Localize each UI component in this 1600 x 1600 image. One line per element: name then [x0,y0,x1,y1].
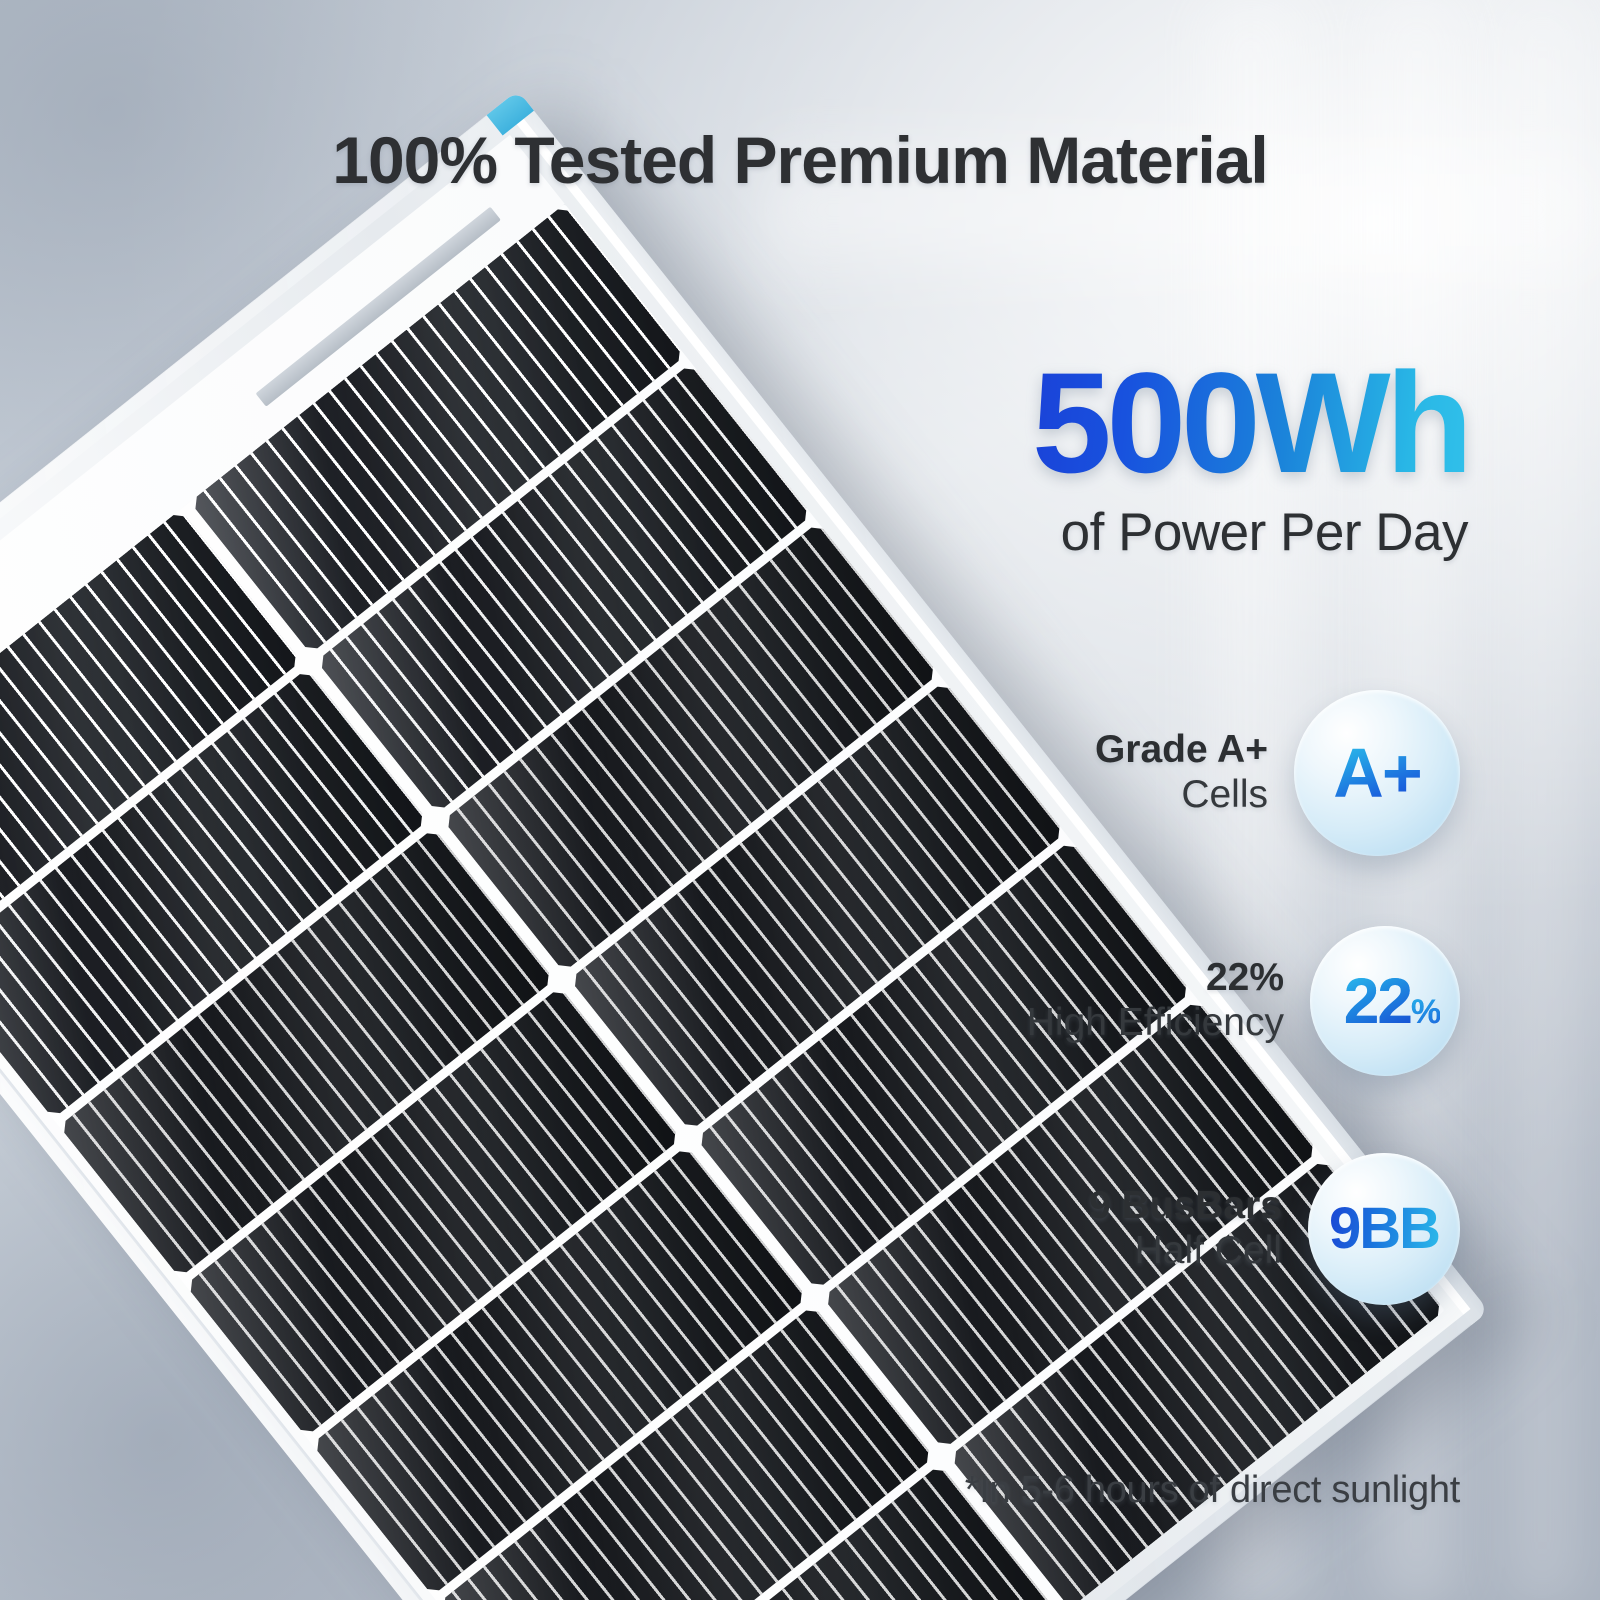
grade-a-plus-badge-icon: A+ [1294,690,1460,856]
busbar-badge-icon: 9BB [1308,1153,1460,1305]
badge-label: 22 [1344,969,1411,1033]
badge-suffix: % [1411,995,1440,1029]
badge-wrap: 22 % [1330,969,1440,1033]
page-title: 100% Tested Premium Material [0,122,1600,198]
feature-text: 9 BusBars Half Cell [1089,1183,1282,1275]
feature-title: 22% [1027,955,1284,1000]
feature-list: Grade A+ Cells A+ 22% High Efficiency 22… [990,690,1460,1374]
feature-text: 22% High Efficiency [1027,955,1284,1047]
badge-label: 9BB [1329,1200,1439,1258]
feature-title: Grade A+ [1095,727,1268,772]
hero-stat: 500Wh of Power Per Day [1032,355,1468,563]
feature-subtitle: Half Cell [1089,1228,1282,1275]
feature-text: Grade A+ Cells [1095,727,1268,819]
efficiency-badge-icon: 22 % [1310,926,1460,1076]
feature-subtitle: Cells [1095,772,1268,819]
feature-subtitle: High Efficiency [1027,1000,1284,1047]
feature-item-efficiency: 22% High Efficiency 22 % [990,918,1460,1084]
infographic-canvas: RENOGY [0,0,1600,1600]
hero-value: 500Wh [1032,355,1468,492]
feature-item-busbars: 9 BusBars Half Cell 9BB [990,1146,1460,1312]
feature-item-grade: Grade A+ Cells A+ [990,690,1460,856]
window-light-band-3 [1490,0,1600,1600]
hero-subtitle: of Power Per Day [1032,502,1468,563]
badge-label: A+ [1333,738,1420,808]
feature-title: 9 BusBars [1089,1183,1282,1228]
footnote: *In 5-6 hours of direct sunlight [965,1469,1460,1512]
